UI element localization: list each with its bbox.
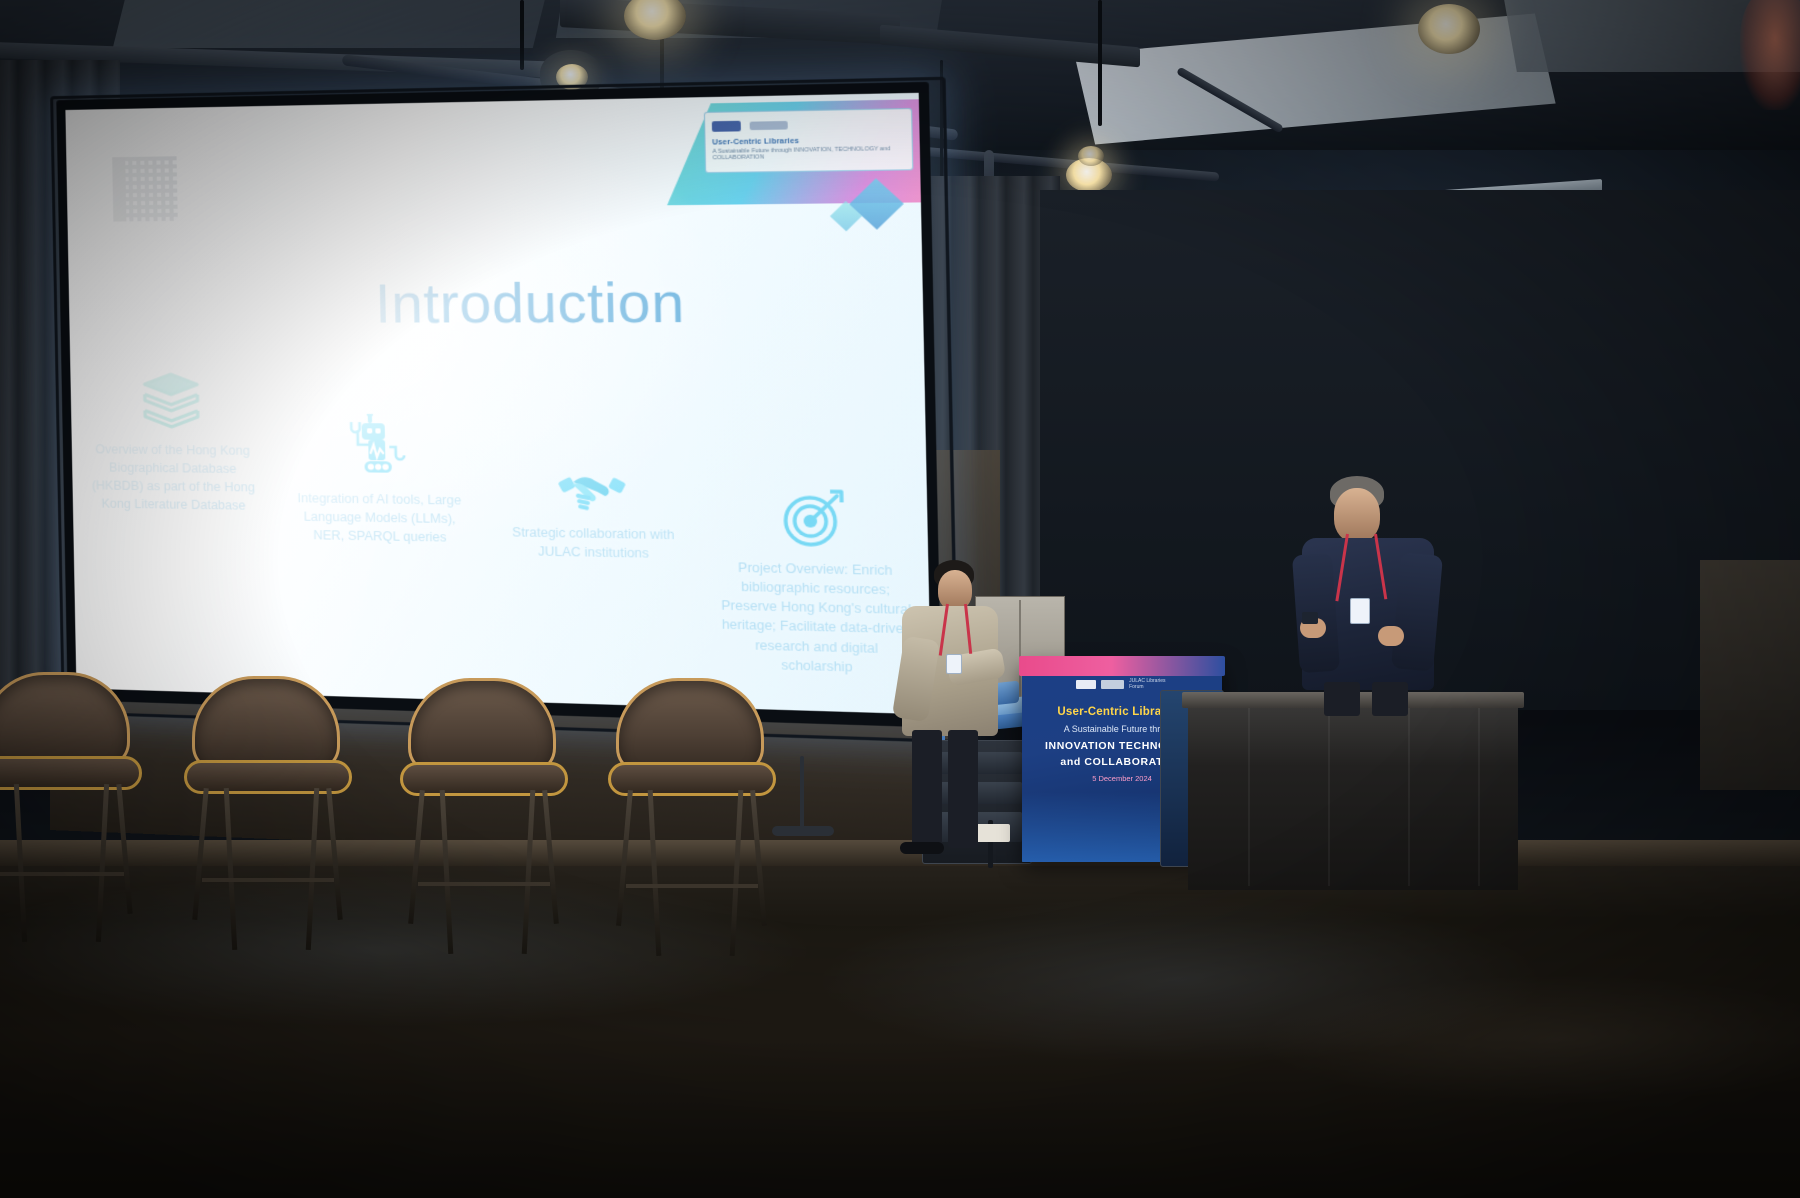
leg-right <box>948 730 978 848</box>
chair-rail <box>626 884 758 888</box>
lectern-logos: JULAC Libraries Forum <box>1076 678 1176 690</box>
chair-rail <box>0 872 124 876</box>
scene-stage: User-Centric Libraries A Sustainable Fut… <box>0 0 1800 1198</box>
leg-right <box>1372 682 1408 716</box>
hand-right <box>1378 626 1404 646</box>
hanging-cable-1 <box>520 0 524 70</box>
conference-badge <box>946 654 962 674</box>
presentation-clicker-icon[interactable] <box>1302 612 1318 624</box>
wood-wall-panel-right <box>1700 560 1800 790</box>
ceiling-lamp-small-2 <box>1078 146 1104 166</box>
lectern-top-edge <box>1019 656 1225 676</box>
drape-fold <box>1478 708 1480 886</box>
drape-fold <box>1248 708 1250 886</box>
mic-stand-pole <box>800 756 804 836</box>
chair-back <box>408 678 556 774</box>
lens-flare <box>1740 0 1800 110</box>
chair-back <box>616 678 764 774</box>
hkbu-logo-icon <box>1076 680 1096 689</box>
floor-reflection <box>0 840 1800 1198</box>
leg-left <box>912 730 942 850</box>
drape-fold <box>1328 708 1330 886</box>
ceiling-lamp-right <box>1418 4 1480 54</box>
leg-left <box>1324 682 1360 716</box>
chair-back <box>192 676 340 772</box>
conference-badge <box>1350 598 1370 624</box>
power-strip <box>976 824 1010 842</box>
chair-rail <box>202 878 334 882</box>
ceiling-tile-left <box>113 0 547 48</box>
screen-border <box>50 77 959 744</box>
black-draped-table <box>1188 700 1518 890</box>
drape-fold <box>1408 708 1410 886</box>
stage-floor <box>0 840 1800 1198</box>
chair-rail <box>418 882 550 886</box>
shoe <box>900 842 944 854</box>
mic-stand-base <box>772 826 834 836</box>
hanging-cable-3 <box>1098 0 1102 126</box>
julac-logo-icon <box>1101 680 1124 689</box>
forum-label: JULAC Libraries Forum <box>1129 678 1176 690</box>
